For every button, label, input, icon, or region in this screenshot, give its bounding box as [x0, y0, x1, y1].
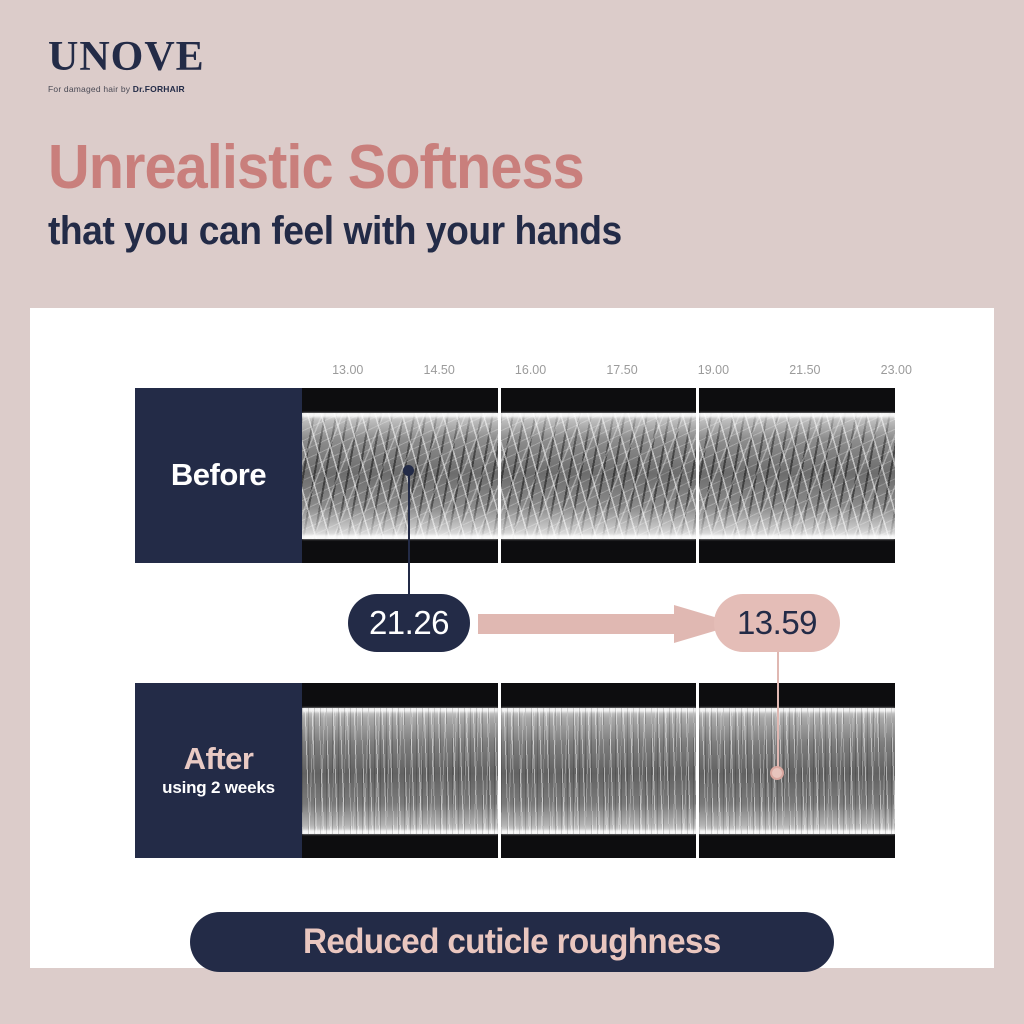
brand-wordmark: UNOVE [48, 36, 308, 78]
headline-block: Unrealistic Softness that you can feel w… [48, 136, 968, 252]
hair-fibre-texture [302, 413, 498, 539]
hair-fibre-texture [699, 708, 895, 834]
sem-panel-before-3 [699, 388, 895, 563]
right-arrow-icon [478, 605, 738, 643]
axis-tick-5: 21.50 [789, 363, 820, 377]
fibre-edge-top [501, 708, 697, 712]
axis-tick-6: 23.00 [881, 363, 912, 377]
sem-panel-before-1 [302, 388, 498, 563]
row-label-before-title: Before [171, 459, 266, 492]
comparison-row-before: Before [135, 388, 895, 563]
row-label-after: After using 2 weeks [135, 683, 302, 858]
fibre-edge-bottom [501, 830, 697, 834]
brand-tagline: For damaged hair by Dr.FORHAIR [48, 84, 308, 94]
hair-fibre-texture [501, 413, 697, 539]
fibre-edge-top [501, 413, 697, 417]
row-label-after-subtitle: using 2 weeks [162, 778, 275, 798]
axis-tick-0: 13.00 [332, 363, 363, 377]
fibre-edge-top [699, 413, 895, 417]
brand-tagline-prefix: For damaged hair by [48, 84, 133, 94]
result-banner: Reduced cuticle roughness [190, 912, 834, 972]
fibre-edge-top [699, 708, 895, 712]
fibre-edge-bottom [501, 535, 697, 539]
brand-logo: UNOVE For damaged hair by Dr.FORHAIR [48, 36, 308, 94]
row-label-before: Before [135, 388, 302, 563]
sem-panel-before-2 [501, 388, 697, 563]
sem-strip-after [302, 683, 895, 858]
axis-tick-4: 19.00 [698, 363, 729, 377]
value-badge-before: 21.26 [348, 594, 470, 652]
connector-line-after [777, 648, 779, 773]
measurement-point-marker-pink-icon [770, 766, 784, 780]
axis-tick-1: 14.50 [424, 363, 455, 377]
result-banner-text: Reduced cuticle roughness [303, 922, 721, 962]
headline-primary: Unrealistic Softness [48, 136, 904, 200]
measurement-point-marker-navy-icon [403, 465, 414, 476]
hair-fibre-texture [302, 708, 498, 834]
axis-tick-2: 16.00 [515, 363, 546, 377]
fibre-edge-bottom [699, 535, 895, 539]
hair-fibre-texture [699, 413, 895, 539]
hair-fibre-texture [501, 708, 697, 834]
fibre-edge-top [302, 413, 498, 417]
axis-tick-labels: 13.0014.5016.0017.5019.0021.5023.00 [302, 363, 942, 385]
sem-strip-before [302, 388, 895, 563]
fibre-edge-top [302, 708, 498, 712]
value-badge-after: 13.59 [714, 594, 840, 652]
sem-panel-after-2 [501, 683, 697, 858]
headline-secondary: that you can feel with your hands [48, 210, 904, 252]
fibre-edge-bottom [302, 535, 498, 539]
axis-tick-3: 17.50 [606, 363, 637, 377]
connector-line-before [408, 470, 410, 595]
fibre-edge-bottom [699, 830, 895, 834]
row-label-after-title: After [184, 743, 254, 776]
fibre-edge-bottom [302, 830, 498, 834]
brand-tagline-partner: Dr.FORHAIR [133, 84, 185, 94]
sem-panel-after-1 [302, 683, 498, 858]
sem-panel-after-3 [699, 683, 895, 858]
